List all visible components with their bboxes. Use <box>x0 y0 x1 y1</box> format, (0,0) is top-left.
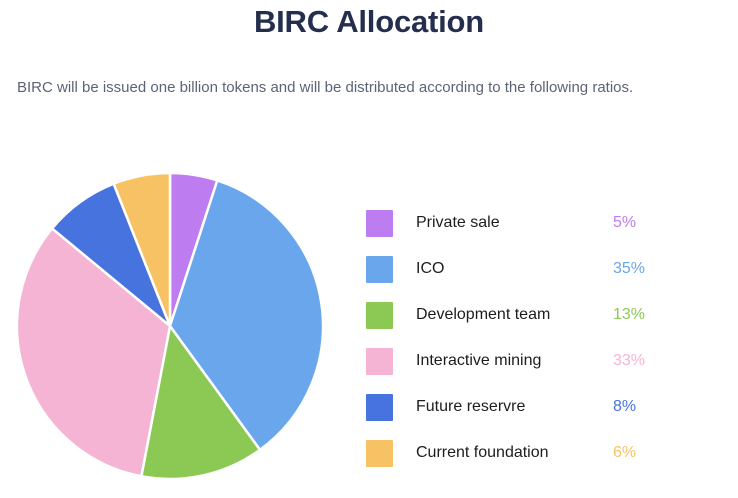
legend-item-ico[interactable]: ICO35% <box>366 246 696 292</box>
legend-label-ico: ICO <box>416 259 444 279</box>
legend-value-current-foundation: 6% <box>613 443 636 463</box>
allocation-chart: Private sale5%ICO35%Development team13%I… <box>0 140 738 498</box>
legend-item-interactive-mining[interactable]: Interactive mining33% <box>366 338 696 384</box>
chart-legend: Private sale5%ICO35%Development team13%I… <box>366 200 696 476</box>
legend-swatch-development-team <box>366 302 393 329</box>
legend-value-interactive-mining: 33% <box>613 351 645 371</box>
legend-item-current-foundation[interactable]: Current foundation6% <box>366 430 696 476</box>
legend-value-future-reservre: 8% <box>613 397 636 417</box>
pie-chart <box>14 170 326 482</box>
legend-item-private-sale[interactable]: Private sale5% <box>366 200 696 246</box>
legend-value-private-sale: 5% <box>613 213 636 233</box>
page-title: BIRC Allocation <box>0 2 738 42</box>
legend-swatch-private-sale <box>366 210 393 237</box>
legend-label-private-sale: Private sale <box>416 213 500 233</box>
legend-label-development-team: Development team <box>416 305 550 325</box>
legend-label-interactive-mining: Interactive mining <box>416 351 541 371</box>
legend-swatch-future-reservre <box>366 394 393 421</box>
legend-label-current-foundation: Current foundation <box>416 443 549 463</box>
legend-label-future-reservre: Future reservre <box>416 397 525 417</box>
legend-item-development-team[interactable]: Development team13% <box>366 292 696 338</box>
legend-value-development-team: 13% <box>613 305 645 325</box>
legend-swatch-ico <box>366 256 393 283</box>
pie-chart-svg <box>14 170 326 482</box>
legend-item-future-reservre[interactable]: Future reservre8% <box>366 384 696 430</box>
legend-swatch-current-foundation <box>366 440 393 467</box>
page-subtitle: BIRC will be issued one billion tokens a… <box>17 77 723 99</box>
pie-slice-group <box>17 173 323 479</box>
legend-value-ico: 35% <box>613 259 645 279</box>
legend-swatch-interactive-mining <box>366 348 393 375</box>
